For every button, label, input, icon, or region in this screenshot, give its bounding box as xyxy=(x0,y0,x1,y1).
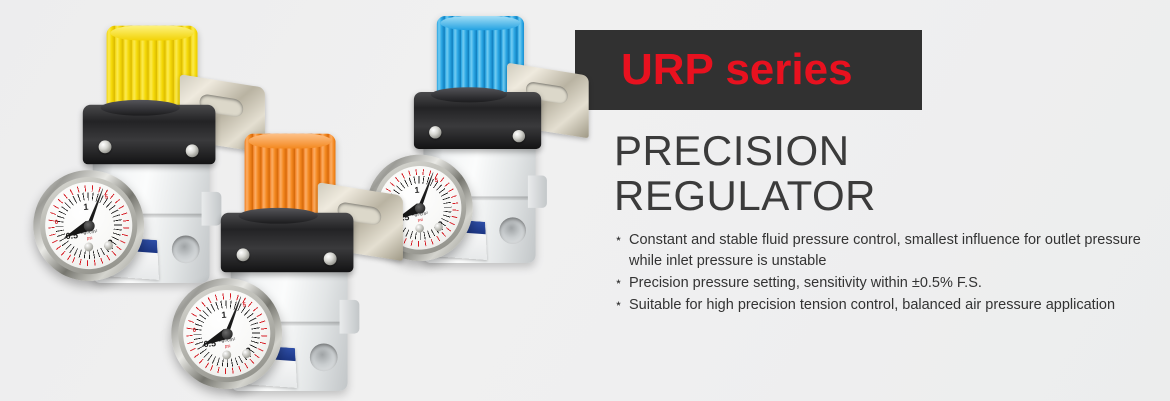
knob-top xyxy=(249,134,332,149)
headline-line-2: REGULATOR xyxy=(614,173,876,218)
cap-screw xyxy=(429,126,441,138)
cap-ring xyxy=(239,208,318,224)
precision-regulator-orange: AAQ UR-02 REGULATOR 0.5 1 2 0 5 kgf/cm² … xyxy=(169,128,426,401)
air-port xyxy=(499,217,526,244)
series-title: URP series xyxy=(575,48,853,92)
gauge-numeral-red: 5 xyxy=(435,178,439,184)
banner-content: URP series PRECISION REGULATOR ﹡ Constan… xyxy=(575,0,1170,401)
product-banner: AAQ UR-02 REGULATOR 0.5 1 2 0 5 kgf/cm² … xyxy=(0,0,1170,401)
cap-screw xyxy=(237,248,250,261)
product-photo-stage: AAQ UR-02 REGULATOR 0.5 1 2 0 5 kgf/cm² … xyxy=(0,0,575,401)
gauge-numeral-red: 0 xyxy=(193,328,197,334)
knob-top xyxy=(441,16,521,30)
body-lug xyxy=(340,300,360,334)
gauge-numeral-red: 5 xyxy=(104,194,108,200)
feature-text: Precision pressure setting, sensitivity … xyxy=(629,273,1163,294)
feature-list: ﹡ Constant and stable fluid pressure con… xyxy=(611,230,1163,318)
body-lug xyxy=(528,176,547,208)
feature-text: Suitable for high precision tension cont… xyxy=(629,295,1163,316)
feature-item: ﹡ Constant and stable fluid pressure con… xyxy=(611,230,1163,272)
air-port xyxy=(310,343,338,371)
cap-screw xyxy=(513,130,525,142)
cap-screw xyxy=(324,252,337,265)
cap-screw xyxy=(99,140,112,153)
gauge-numeral: 1 xyxy=(83,202,89,212)
cap-ring xyxy=(431,87,507,102)
asterisk-icon: ﹡ xyxy=(611,273,629,294)
feature-item: ﹡ Suitable for high precision tension co… xyxy=(611,295,1163,316)
series-banner: URP series xyxy=(575,30,922,110)
gauge-numeral-red: 0 xyxy=(55,220,59,226)
feature-text: Constant and stable fluid pressure contr… xyxy=(629,230,1163,272)
asterisk-icon: ﹡ xyxy=(611,230,629,251)
regulator-top-cap xyxy=(414,92,541,149)
gauge-numeral-red: 5 xyxy=(242,302,246,308)
headline-line-1: PRECISION xyxy=(614,128,876,173)
asterisk-icon: ﹡ xyxy=(611,295,629,316)
knob-top xyxy=(111,26,194,41)
feature-item: ﹡ Precision pressure setting, sensitivit… xyxy=(611,273,1163,294)
regulator-top-cap xyxy=(221,213,354,272)
page-title: PRECISION REGULATOR xyxy=(614,128,876,219)
gauge-hub xyxy=(83,220,95,232)
gauge-numeral: 1 xyxy=(221,310,227,320)
cap-ring xyxy=(101,100,180,116)
gauge-hub xyxy=(221,328,233,340)
